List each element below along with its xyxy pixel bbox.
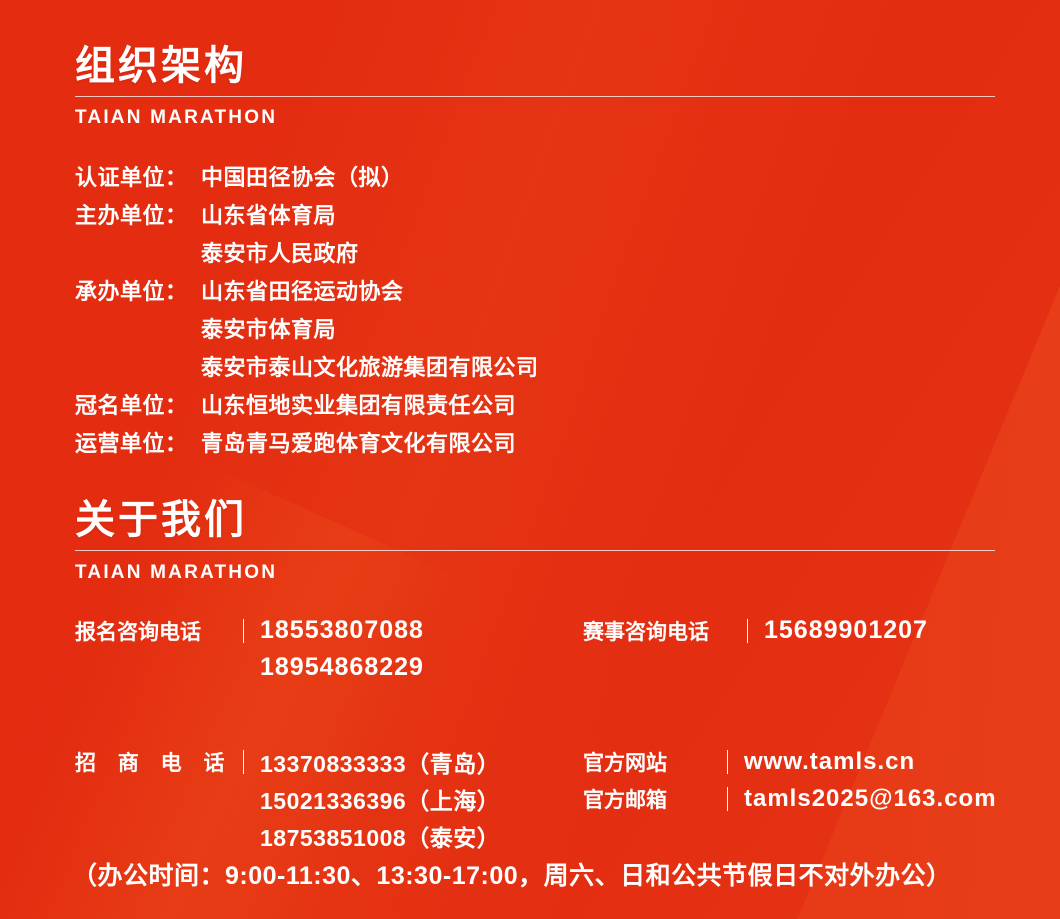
- organization-row: 认证单位： 中国田径协会（拟）: [75, 160, 539, 198]
- organization-row-value: 山东省田径运动协会: [201, 274, 404, 306]
- organization-row: 冠名单位： 山东恒地实业集团有限责任公司: [75, 388, 539, 426]
- organization-row-label: 承办单位：: [75, 274, 201, 306]
- organization-section-header: 组织架构: [75, 46, 247, 86]
- separator-bar-icon: [243, 750, 244, 774]
- poster-root: 组织架构 TAIAN MARATHON 认证单位： 中国田径协会（拟） 主办单位…: [0, 0, 1060, 919]
- signup-phone-row: 报名咨询电话 18553807088: [75, 612, 500, 649]
- email-row: 官方邮箱 tamls2025@163.com: [583, 780, 997, 817]
- organization-row-label: 主办单位：: [75, 198, 201, 230]
- organization-section-subtitle: TAIAN MARATHON: [75, 108, 277, 127]
- organization-section-divider: [75, 96, 995, 97]
- email-label: 官方邮箱: [583, 784, 713, 814]
- website-row: 官方网站 www.tamls.cn: [583, 743, 997, 780]
- email-value[interactable]: tamls2025@163.com: [744, 785, 997, 813]
- separator-bar-icon: [727, 787, 728, 811]
- separator-bar-icon: [727, 750, 728, 774]
- organization-row: 运营单位： 青岛青马爱跑体育文化有限公司: [75, 426, 539, 464]
- business-phone-row-secondary: 18753851008（泰安）: [75, 817, 500, 854]
- organization-row-label: 运营单位：: [75, 426, 201, 458]
- signup-phone-value[interactable]: 18553807088: [260, 616, 424, 645]
- contact-column-right: 赛事咨询电话 15689901207 官方网站 www.tamls.cn 官方邮…: [583, 612, 997, 817]
- organization-list: 认证单位： 中国田径协会（拟） 主办单位： 山东省体育局 泰安市人民政府 承办单…: [75, 160, 539, 464]
- organization-row-value: 青岛青马爱跑体育文化有限公司: [201, 426, 516, 458]
- website-label: 官方网站: [583, 747, 713, 777]
- about-section-divider: [75, 550, 995, 551]
- about-section-title: 关于我们: [75, 500, 247, 540]
- signup-phone-value[interactable]: 18954868229: [260, 653, 424, 682]
- signup-phone-row-secondary: 18954868229: [75, 649, 500, 686]
- signup-phone-label: 报名咨询电话: [75, 616, 229, 646]
- organization-row: 主办单位： 山东省体育局: [75, 198, 539, 236]
- organization-row-value: 山东省体育局: [201, 198, 336, 230]
- race-phone-label: 赛事咨询电话: [583, 616, 733, 646]
- business-phone-value[interactable]: 13370833333（青岛）: [260, 745, 500, 779]
- organization-row: 泰安市人民政府: [75, 236, 539, 274]
- separator-bar-icon: [243, 619, 244, 643]
- business-phone-row: 招 商 电 话 13370833333（青岛）: [75, 743, 500, 780]
- organization-row-value: 泰安市体育局: [201, 312, 336, 344]
- website-value[interactable]: www.tamls.cn: [744, 748, 915, 776]
- about-section-header: 关于我们: [75, 500, 247, 540]
- race-phone-row: 赛事咨询电话 15689901207: [583, 612, 997, 649]
- contact-column-left: 报名咨询电话 18553807088 18954868229 招 商 电 话 1…: [75, 612, 500, 854]
- business-phone-row-secondary: 15021336396（上海）: [75, 780, 500, 817]
- organization-row-label: 冠名单位：: [75, 388, 201, 420]
- organization-row-value: 山东恒地实业集团有限责任公司: [201, 388, 516, 420]
- organization-row: 泰安市体育局: [75, 312, 539, 350]
- about-section-subtitle: TAIAN MARATHON: [75, 563, 277, 582]
- organization-row: 泰安市泰山文化旅游集团有限公司: [75, 350, 539, 388]
- business-phone-value[interactable]: 15021336396（上海）: [260, 782, 500, 816]
- poster-content: 组织架构 TAIAN MARATHON 认证单位： 中国田径协会（拟） 主办单位…: [0, 0, 1060, 919]
- organization-row-value: 泰安市泰山文化旅游集团有限公司: [201, 350, 539, 382]
- organization-row-value: 泰安市人民政府: [201, 236, 359, 268]
- separator-bar-icon: [747, 619, 748, 643]
- business-phone-value[interactable]: 18753851008（泰安）: [260, 819, 500, 853]
- business-phone-label: 招 商 电 话: [75, 747, 229, 777]
- race-phone-value[interactable]: 15689901207: [764, 616, 928, 645]
- organization-row-label: 认证单位：: [75, 160, 201, 192]
- organization-section-title: 组织架构: [75, 46, 247, 86]
- organization-row-value: 中国田径协会（拟）: [201, 160, 404, 192]
- office-hours-note: （办公时间：9:00-11:30、13:30-17:00，周六、日和公共节假日不…: [72, 856, 952, 892]
- organization-row: 承办单位： 山东省田径运动协会: [75, 274, 539, 312]
